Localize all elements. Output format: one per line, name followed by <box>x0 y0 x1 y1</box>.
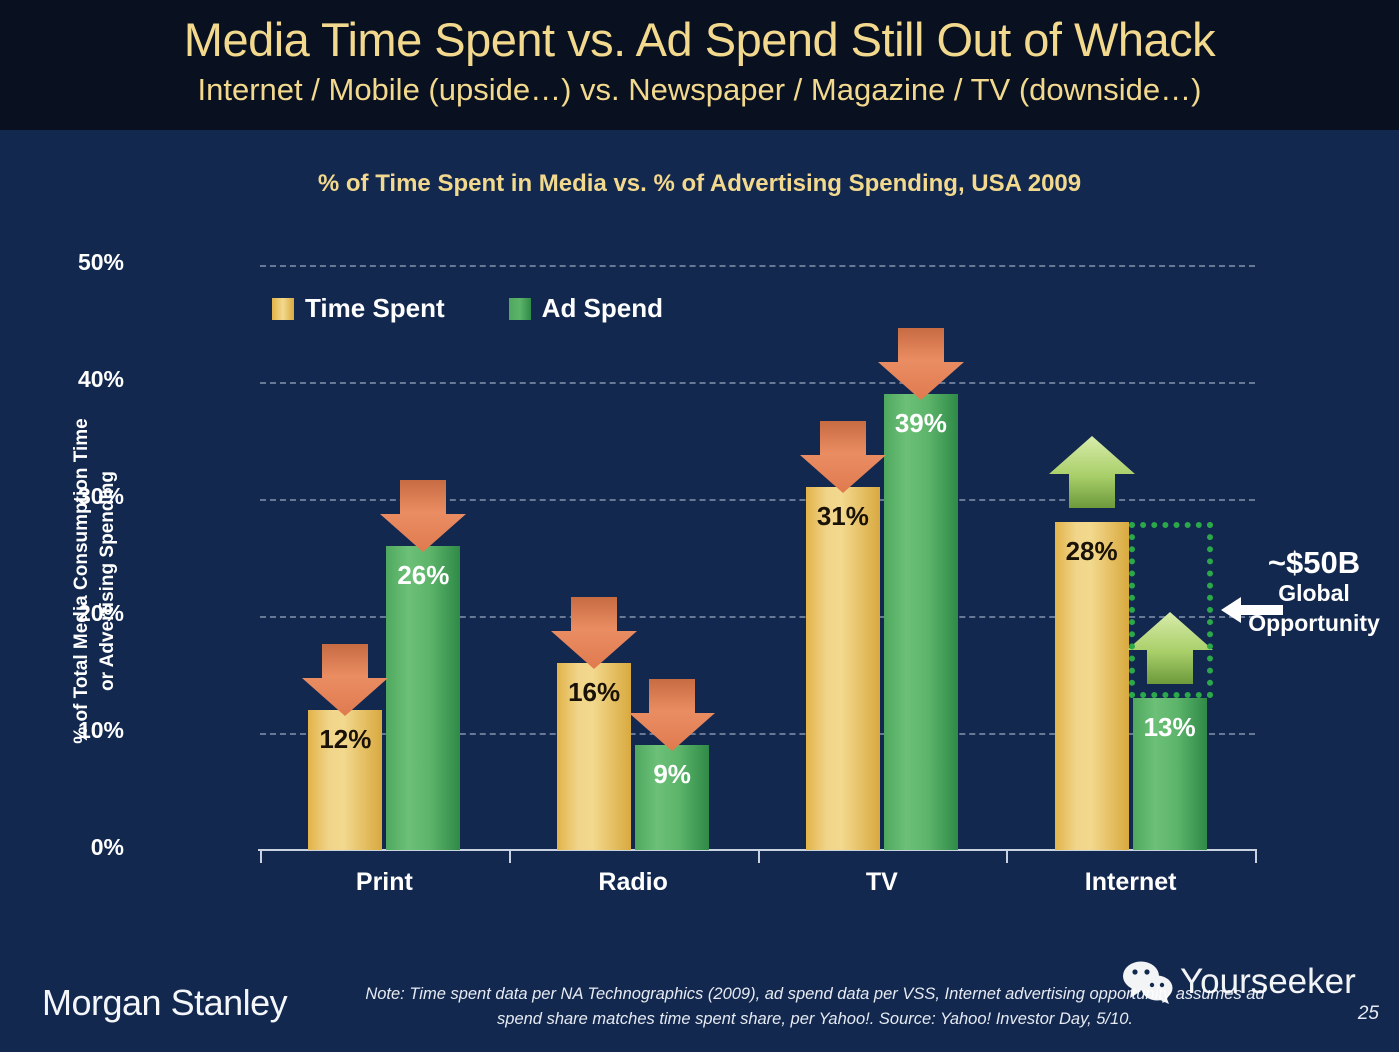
bar-value-label: 9% <box>635 759 709 790</box>
down-arrow-icon <box>551 597 637 669</box>
bar-tv-ad: 39% <box>884 394 958 850</box>
page-number: 25 <box>1358 1003 1379 1025</box>
legend-item-ad: Ad Spend <box>509 293 663 324</box>
x-axis-tick <box>1006 849 1008 863</box>
y-axis-tick-label: 40% <box>4 366 124 393</box>
x-axis-tick <box>260 849 262 863</box>
down-arrow-icon <box>800 421 886 493</box>
slide-title: Media Time Spent vs. Ad Spend Still Out … <box>0 12 1399 67</box>
y-axis-tick-label: 30% <box>4 483 124 510</box>
bar-value-label: 16% <box>557 677 631 708</box>
chart-title: % of Time Spent in Media vs. % of Advert… <box>0 170 1399 198</box>
y-axis-tick-label: 20% <box>4 600 124 627</box>
watermark-label: Yourseeker <box>1180 962 1356 1002</box>
x-axis-tick <box>1255 849 1257 863</box>
x-axis-tick <box>758 849 760 863</box>
y-axis-tick-label: 10% <box>4 717 124 744</box>
legend-label: Time Spent <box>305 293 445 324</box>
y-axis-tick-label: 50% <box>4 249 124 276</box>
bar-value-label: 39% <box>884 408 958 439</box>
up-arrow-icon <box>1049 436 1135 508</box>
slide-canvas: Media Time Spent vs. Ad Spend Still Out … <box>0 0 1399 1052</box>
watermark: Yourseeker <box>1122 960 1356 1004</box>
legend-swatch-ad <box>509 298 531 320</box>
down-arrow-icon <box>380 480 466 552</box>
bar-print-ad: 26% <box>386 546 460 850</box>
x-axis-tick <box>509 849 511 863</box>
opportunity-callout: ~$50B Global Opportunity <box>1230 548 1398 638</box>
plot-area: 12%16%31%28%26%9%39%13% <box>260 265 1255 850</box>
bar-value-label: 28% <box>1055 536 1129 567</box>
slide-subtitle: Internet / Mobile (upside…) vs. Newspape… <box>0 72 1399 108</box>
legend-swatch-time <box>272 298 294 320</box>
category-label-print: Print <box>274 868 494 897</box>
down-arrow-icon <box>302 644 388 716</box>
legend-label: Ad Spend <box>542 293 663 324</box>
bar-value-label: 26% <box>386 560 460 591</box>
footnote-line2: spend share matches time spent share, pe… <box>310 1007 1320 1032</box>
callout-line1: Global <box>1230 578 1398 608</box>
down-arrow-icon <box>878 328 964 400</box>
callout-line2: Opportunity <box>1230 608 1398 638</box>
legend-item-time: Time Spent <box>272 293 445 324</box>
bar-internet-time: 28% <box>1055 522 1129 850</box>
category-label-internet: Internet <box>1021 868 1241 897</box>
opportunity-gap-box <box>1129 522 1213 698</box>
wechat-icon <box>1122 960 1174 1004</box>
bar-value-label: 31% <box>806 501 880 532</box>
callout-amount: ~$50B <box>1230 548 1398 578</box>
bar-radio-ad: 9% <box>635 745 709 850</box>
morgan-stanley-logo: Morgan Stanley <box>42 982 287 1024</box>
bar-value-label: 12% <box>308 724 382 755</box>
bar-tv-time: 31% <box>806 487 880 850</box>
bar-print-time: 12% <box>308 710 382 850</box>
category-label-radio: Radio <box>523 868 743 897</box>
bar-internet-ad: 13% <box>1133 698 1207 850</box>
legend: Time SpentAd Spend <box>272 293 663 324</box>
down-arrow-icon <box>629 679 715 751</box>
category-label-tv: TV <box>772 868 992 897</box>
bar-value-label: 13% <box>1133 712 1207 743</box>
bar-radio-time: 16% <box>557 663 631 850</box>
y-axis-tick-label: 0% <box>4 834 124 861</box>
